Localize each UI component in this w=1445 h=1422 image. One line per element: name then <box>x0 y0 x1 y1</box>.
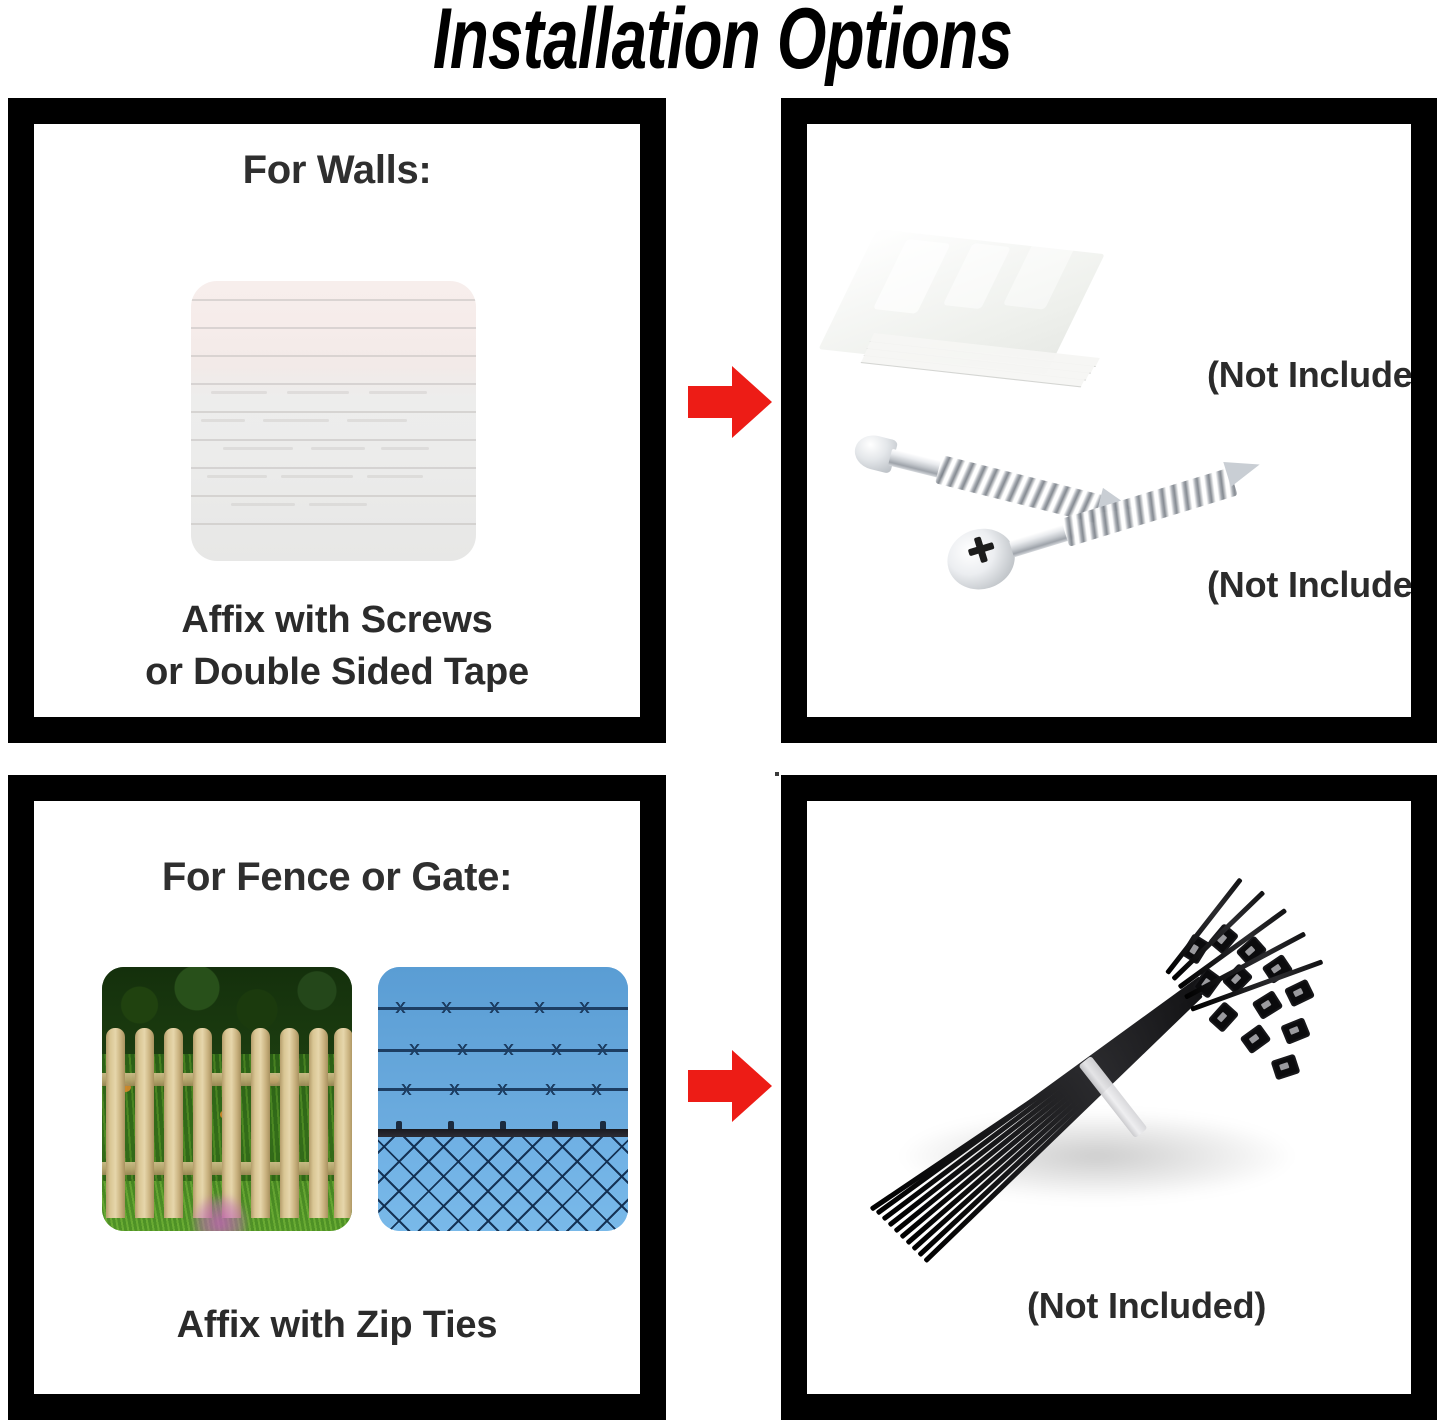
wooden-picket-fence-photo <box>102 967 352 1231</box>
tape-not-included-label: (Not Included) <box>1207 354 1411 396</box>
screws-not-included-label: (Not Included) <box>1207 564 1411 606</box>
zipties-not-included-label: (Not Included) <box>1027 1285 1266 1327</box>
image-speck-artifact <box>775 772 779 776</box>
installation-options-infographic: Installation Options For Walls: <box>0 0 1445 1422</box>
panel-for-walls: For Walls: <box>8 98 666 743</box>
double-sided-tape-stack <box>877 229 1127 384</box>
fence-caption-line-1: Affix with Zip Ties <box>34 1299 640 1351</box>
panel-zip-ties: (Not Included) <box>781 775 1437 1420</box>
walls-caption: Affix with Screws or Double Sided Tape <box>34 594 640 699</box>
for-fence-or-gate-heading: For Fence or Gate: <box>34 855 640 900</box>
chain-link-barbed-wire-fence-photo <box>378 967 628 1231</box>
for-walls-heading: For Walls: <box>34 148 640 193</box>
panel-wall-hardware: (Not Included) (Not Included) <box>781 98 1437 743</box>
arrow-fence-to-zipties <box>688 1048 772 1129</box>
walls-caption-line-2: or Double Sided Tape <box>34 646 640 698</box>
fence-caption: Affix with Zip Ties <box>34 1299 640 1351</box>
page-title: Installation Options <box>188 0 1257 82</box>
panel-for-fence-or-gate: For Fence or Gate: <box>8 775 666 1420</box>
black-zip-tie-bundle <box>867 911 1337 1311</box>
white-brick-wall-photo <box>191 281 476 561</box>
walls-caption-line-1: Affix with Screws <box>34 594 640 646</box>
arrow-walls-to-hardware <box>688 364 772 445</box>
